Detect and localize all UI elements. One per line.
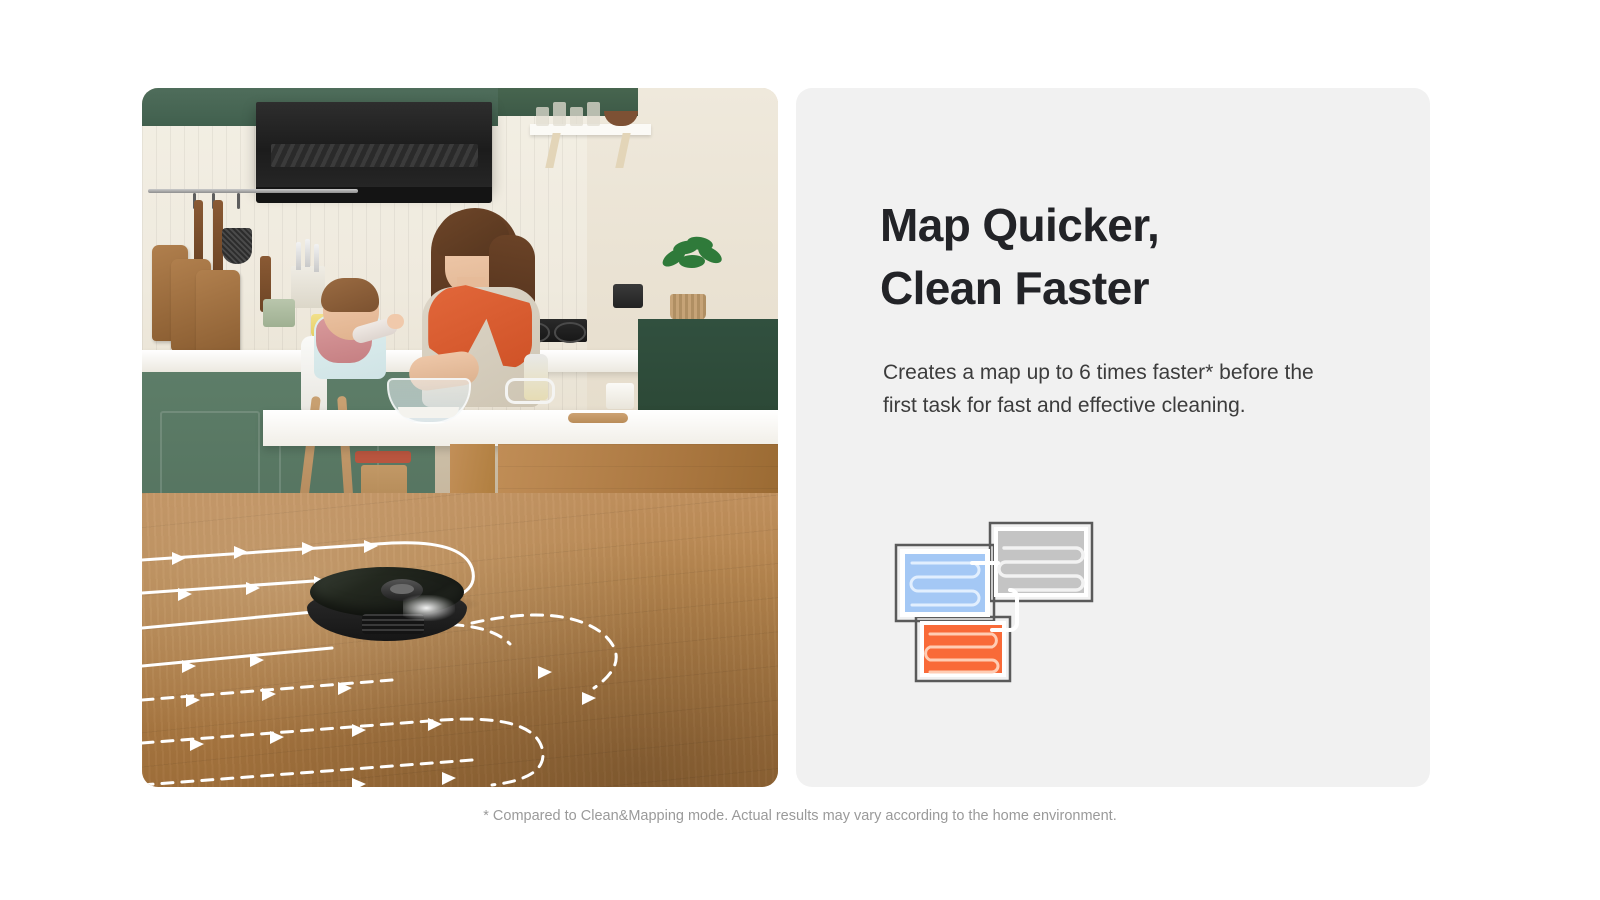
footnote: * Compared to Clean&Mapping mode. Actual… xyxy=(0,808,1600,824)
headline: Map Quicker, Clean Faster xyxy=(880,194,1159,319)
feature-text-card: Map Quicker, Clean Faster Creates a map … xyxy=(796,88,1430,787)
kitchen-photo-card xyxy=(142,88,778,787)
multi-room-map-illustration xyxy=(880,503,1095,683)
room-orange-fill xyxy=(924,625,1002,673)
cleaning-path-overlay xyxy=(142,88,778,787)
feature-row: Map Quicker, Clean Faster Creates a map … xyxy=(142,88,1430,787)
body-copy: Creates a map up to 6 times faster* befo… xyxy=(883,356,1353,422)
page-root: Map Quicker, Clean Faster Creates a map … xyxy=(0,0,1600,900)
dirt-spot xyxy=(403,595,455,621)
